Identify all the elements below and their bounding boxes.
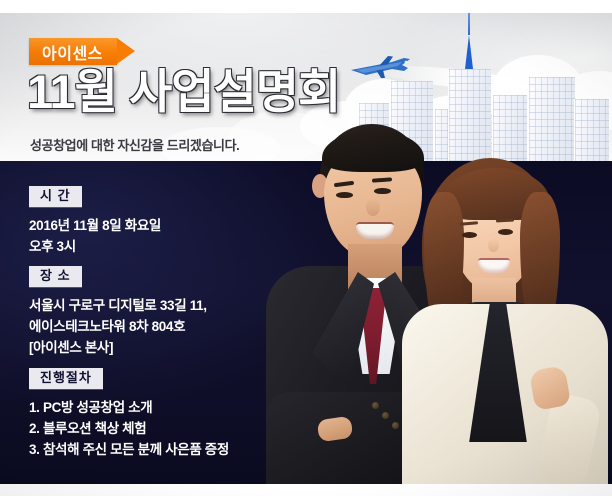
info-lines-place: 서울시 구로구 디지털로 33길 11, 에이스테크노타워 8차 804호 [아… [29, 296, 207, 359]
brand-badge: 아이센스 [29, 38, 117, 65]
businesswoman-photo [396, 152, 612, 484]
woman-eye-left [462, 232, 477, 238]
info-block-place: 장 소 서울시 구로구 디지털로 33길 11, 에이스테크노타워 8차 804… [29, 266, 207, 359]
info-block-program: 진행절차 1. PC방 성공창업 소개 2. 블루오션 책상 체험 3. 참석해… [29, 368, 229, 461]
info-line: 2. 블루오션 책상 체험 [29, 419, 229, 440]
page-subtitle: 성공창업에 대한 자신감을 드리겠습니다. [30, 135, 239, 154]
info-line: 3. 참석해 주신 모든 분께 사은품 증정 [29, 440, 229, 461]
tower-spire-icon [465, 35, 473, 69]
woman-eye-right [498, 229, 513, 235]
info-line: 에이스테크노타워 8차 804호 [29, 317, 207, 338]
man-smile [356, 222, 394, 239]
title-rest: 사업설명회 [117, 65, 340, 118]
info-chip-program: 진행절차 [29, 368, 103, 389]
title-month: 11월 [27, 65, 117, 118]
badge-arrow-icon [117, 38, 135, 64]
info-line: [아이센스 본사] [29, 338, 207, 359]
tower-needle-icon [468, 13, 470, 35]
people-photo [246, 112, 612, 484]
info-line: 오후 3시 [29, 237, 161, 258]
man-eye-right [374, 188, 391, 194]
info-block-time: 시 간 2016년 11월 8일 화요일 오후 3시 [29, 186, 161, 258]
man-button [372, 402, 379, 409]
info-chip-place: 장 소 [29, 266, 82, 287]
page-title: 11월 사업설명회 [27, 68, 340, 115]
man-button [382, 412, 389, 419]
info-line: 서울시 구로구 디지털로 33길 11, [29, 296, 207, 317]
bottom-white-strip [0, 484, 612, 496]
woman-nose [488, 238, 499, 252]
info-lines-program: 1. PC방 성공창업 소개 2. 블루오션 책상 체험 3. 참석해 주신 모… [29, 398, 229, 461]
brand-badge-label: 아이센스 [42, 40, 103, 64]
info-chip-time: 시 간 [29, 186, 82, 207]
info-line: 1. PC방 성공창업 소개 [29, 398, 229, 419]
promo-banner: 아이센스 11월 사업설명회 성공창업에 대한 자신감을 드리겠습니다. 시 간… [0, 0, 612, 496]
info-lines-time: 2016년 11월 8일 화요일 오후 3시 [29, 216, 161, 258]
top-white-strip [0, 0, 612, 13]
info-line: 2016년 11월 8일 화요일 [29, 216, 161, 237]
man-nose [366, 198, 380, 216]
man-eye-left [336, 192, 353, 198]
